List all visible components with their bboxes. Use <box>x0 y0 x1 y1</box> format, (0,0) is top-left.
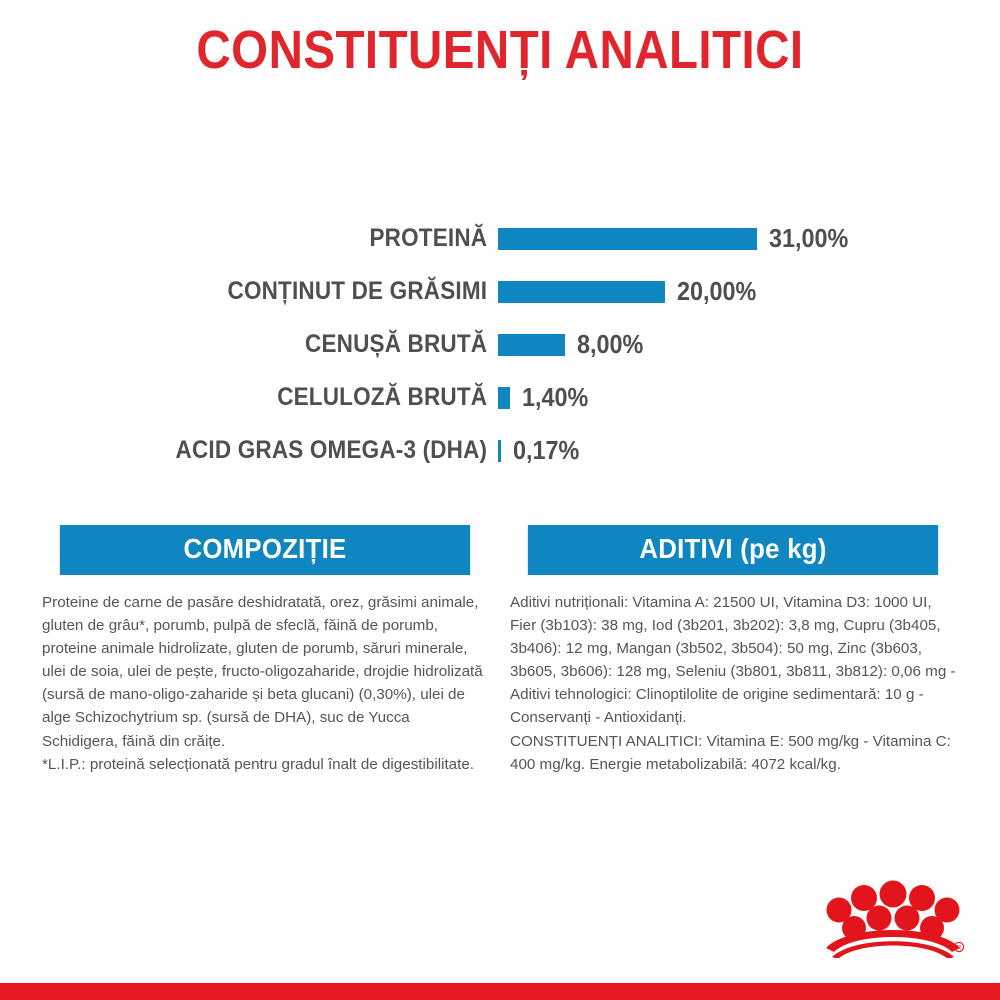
registered-mark: R <box>957 946 962 952</box>
chart-row: CENUȘĂ BRUTĂ 8,00% <box>0 318 1000 371</box>
chart-label-proteina: PROTEINĂ <box>50 224 498 253</box>
analytical-constituents-chart: PROTEINĂ 31,00% CONȚINUT DE GRĂSIMI 20,0… <box>0 212 1000 477</box>
chart-bar-wrap: 31,00% <box>498 223 1000 254</box>
chart-bar-wrap: 8,00% <box>498 329 1000 360</box>
crown-icon: R <box>818 878 968 958</box>
bottom-red-band <box>0 983 1000 1000</box>
panel-header-compozitie: COMPOZIȚIE <box>60 525 470 575</box>
chart-row: CONȚINUT DE GRĂSIMI 20,00% <box>0 265 1000 318</box>
panel-compozitie: COMPOZIȚIE Proteine de carne de pasăre d… <box>42 525 488 776</box>
chart-value-acid-gras-omega-3-dha: 0,17% <box>513 435 579 466</box>
chart-label-celuloza-bruta: CELULOZĂ BRUTĂ <box>50 383 498 412</box>
chart-bar-celuloza-bruta <box>498 387 510 409</box>
chart-value-proteina: 31,00% <box>769 223 848 254</box>
chart-bar-wrap: 1,40% <box>498 382 1000 413</box>
chart-row: PROTEINĂ 31,00% <box>0 212 1000 265</box>
page-title: CONSTITUENȚI ANALITICI <box>60 22 940 79</box>
chart-value-celuloza-bruta: 1,40% <box>522 382 588 413</box>
panel-body-compozitie: Proteine de carne de pasăre deshidratată… <box>42 591 488 776</box>
chart-row: CELULOZĂ BRUTĂ 1,40% <box>0 371 1000 424</box>
chart-row: ACID GRAS OMEGA-3 (DHA) 0,17% <box>0 424 1000 477</box>
chart-bar-proteina <box>498 228 757 250</box>
info-panels: COMPOZIȚIE Proteine de carne de pasăre d… <box>42 525 958 776</box>
panel-header-aditivi: ADITIVI (pe kg) <box>528 525 938 575</box>
chart-value-cenusa-bruta: 8,00% <box>577 329 643 360</box>
chart-bar-acid-gras-omega-3-dha <box>498 440 501 462</box>
chart-bar-cenusa-bruta <box>498 334 565 356</box>
chart-bar-continut-de-grasimi <box>498 281 665 303</box>
chart-bar-wrap: 0,17% <box>498 435 1000 466</box>
panel-aditivi: ADITIVI (pe kg) Aditivi nutriționali: Vi… <box>510 525 956 776</box>
chart-value-continut-de-grasimi: 20,00% <box>677 276 756 307</box>
chart-label-acid-gras-omega-3-dha: ACID GRAS OMEGA-3 (DHA) <box>50 436 498 465</box>
chart-label-cenusa-bruta: CENUȘĂ BRUTĂ <box>50 330 498 359</box>
chart-bar-wrap: 20,00% <box>498 276 1000 307</box>
panel-body-aditivi: Aditivi nutriționali: Vitamina A: 21500 … <box>510 591 956 776</box>
chart-label-continut-de-grasimi: CONȚINUT DE GRĂSIMI <box>50 277 498 306</box>
royal-canin-crown-logo: R <box>818 878 968 958</box>
